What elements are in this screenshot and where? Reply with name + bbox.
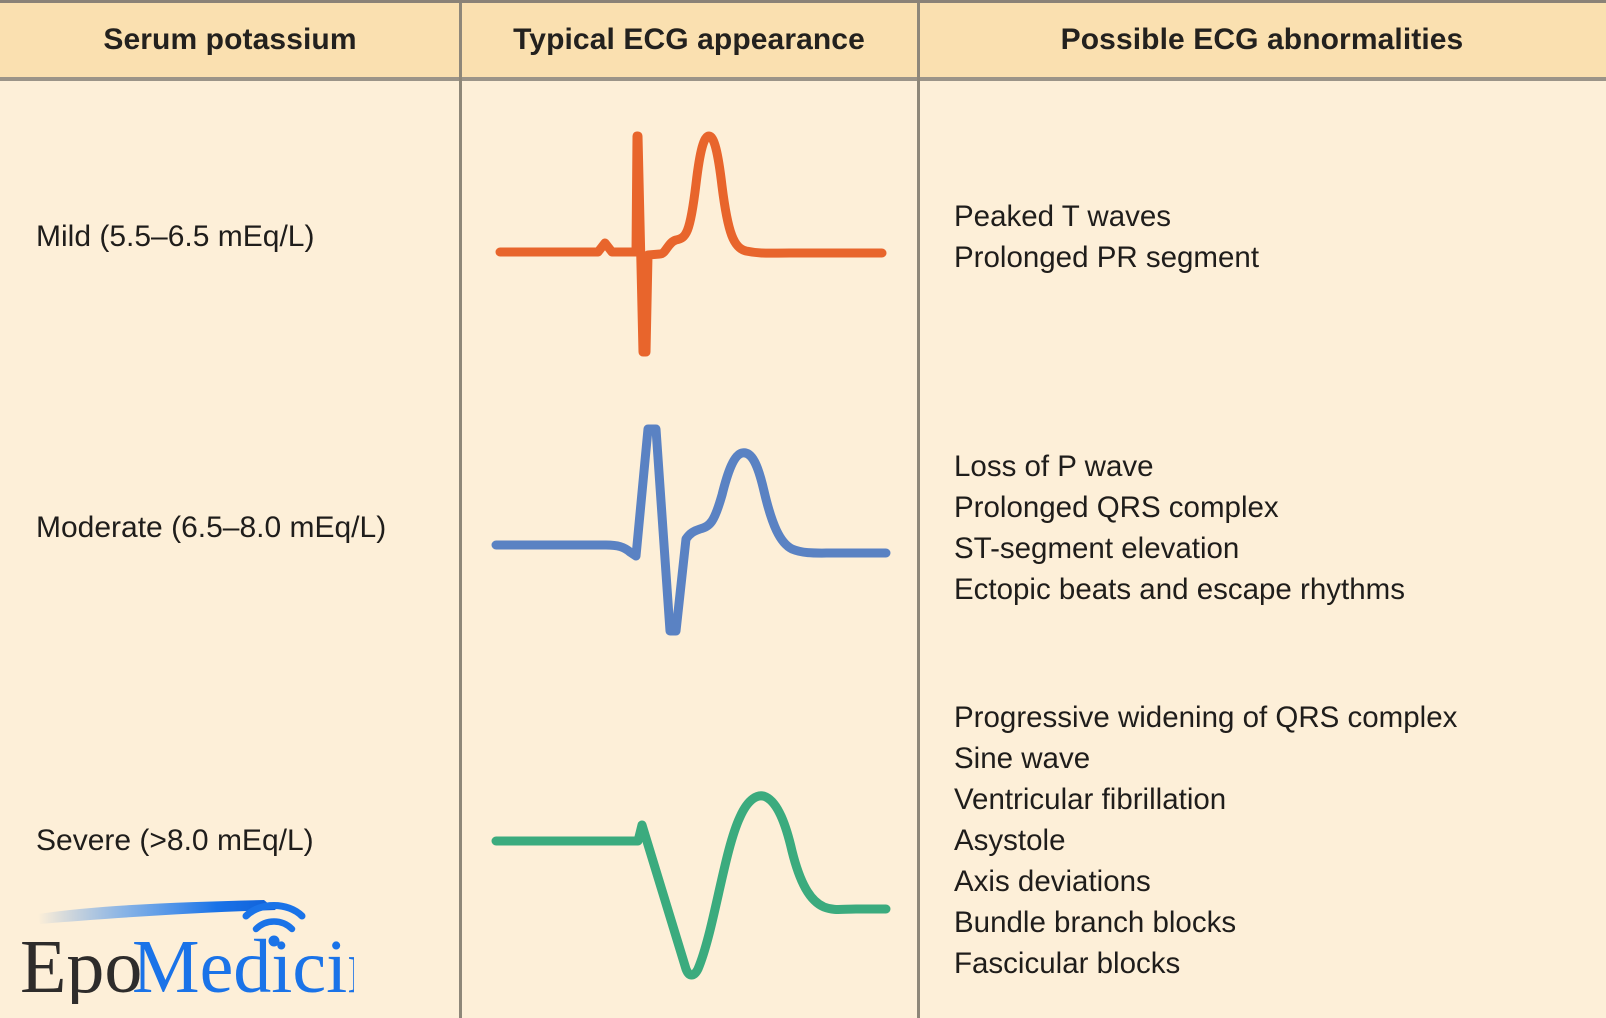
abnormality-item: Sine wave	[954, 738, 1606, 779]
abnormality-item: Prolonged QRS complex	[954, 487, 1606, 528]
ecg-hyperkalemia-table: Serum potassium Typical ECG appearance P…	[0, 0, 1606, 1018]
table-row: Mild (5.5–6.5 mEq/L) Peaked T waves Prol…	[0, 81, 1606, 393]
abnormalities-cell-moderate: Loss of P wave Prolonged QRS complex ST-…	[920, 393, 1606, 663]
abnormality-item: ST-segment elevation	[954, 528, 1606, 569]
ecg-cell-severe	[462, 663, 917, 1018]
abnormality-item: Loss of P wave	[954, 446, 1606, 487]
abnormality-item: Fascicular blocks	[954, 943, 1606, 984]
ecg-cell-moderate	[462, 393, 917, 663]
ecg-trace-mild	[490, 122, 890, 352]
abnormalities-cell-mild: Peaked T waves Prolonged PR segment	[920, 81, 1606, 393]
epomedicine-logo: Epo Medicine	[14, 884, 354, 1004]
column-header-serum-potassium: Serum potassium	[0, 3, 460, 77]
table-row: Moderate (6.5–8.0 mEq/L) Loss of P wave …	[0, 393, 1606, 663]
abnormality-item: Progressive widening of QRS complex	[954, 697, 1606, 738]
logo-text-epo: Epo	[20, 925, 142, 1004]
severity-label-mild: Mild (5.5–6.5 mEq/L)	[0, 81, 459, 393]
logo-text-medicine: Medicine	[132, 925, 354, 1004]
ecg-cell-mild	[462, 81, 917, 393]
table-body: Mild (5.5–6.5 mEq/L) Peaked T waves Prol…	[0, 81, 1606, 1018]
table-header-row: Serum potassium Typical ECG appearance P…	[0, 3, 1606, 81]
abnormality-item: Peaked T waves	[954, 196, 1606, 237]
abnormality-item: Prolonged PR segment	[954, 237, 1606, 278]
abnormality-item: Bundle branch blocks	[954, 902, 1606, 943]
abnormality-item: Asystole	[954, 820, 1606, 861]
column-header-possible-ecg-abnormalities: Possible ECG abnormalities	[918, 3, 1606, 77]
abnormalities-cell-severe: Progressive widening of QRS complex Sine…	[920, 663, 1606, 1018]
column-divider-1	[459, 3, 462, 1018]
abnormality-item: Axis deviations	[954, 861, 1606, 902]
ecg-trace-moderate	[490, 413, 890, 643]
abnormality-item: Ectopic beats and escape rhythms	[954, 569, 1606, 610]
severity-label-moderate: Moderate (6.5–8.0 mEq/L)	[0, 393, 459, 663]
abnormality-item: Ventricular fibrillation	[954, 779, 1606, 820]
column-header-typical-ecg-appearance: Typical ECG appearance	[460, 3, 918, 77]
ecg-trace-severe	[490, 701, 890, 981]
column-divider-2	[917, 3, 920, 1018]
